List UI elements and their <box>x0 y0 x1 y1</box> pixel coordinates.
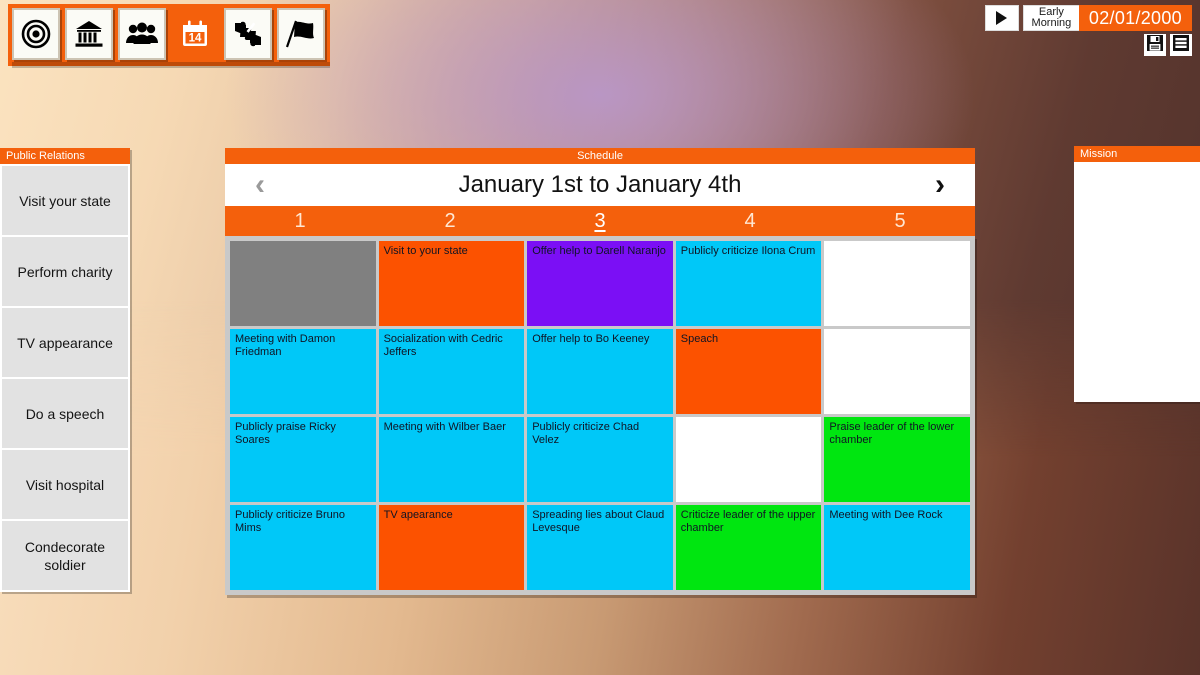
schedule-cell[interactable]: Offer help to Bo Keeney <box>527 329 673 414</box>
pr-action-condecorate-soldier[interactable]: Condecorate soldier <box>2 521 128 590</box>
toolbar-tab-nation[interactable] <box>277 8 325 60</box>
floppy-disk-icon <box>1146 34 1164 57</box>
schedule-column-3[interactable]: 3 <box>525 206 675 236</box>
schedule-cell <box>230 241 376 326</box>
schedule-cell[interactable]: Meeting with Damon Friedman <box>230 329 376 414</box>
play-button[interactable] <box>985 5 1019 31</box>
pr-action-visit-hospital[interactable]: Visit hospital <box>2 450 128 519</box>
pr-action-visit-your-state[interactable]: Visit your state <box>2 166 128 235</box>
flag-icon <box>285 19 317 49</box>
schedule-column-1[interactable]: 1 <box>225 206 375 236</box>
toolbar-tab-people[interactable] <box>118 8 166 60</box>
schedule-cell[interactable]: Publicly praise Ricky Soares <box>230 417 376 502</box>
schedule-cell[interactable]: Meeting with Dee Rock <box>824 505 970 590</box>
schedule-cell[interactable]: Publicly criticize Bruno Mims <box>230 505 376 590</box>
schedule-range-label: January 1st to January 4th <box>277 171 923 199</box>
schedule-title: Schedule <box>225 148 975 164</box>
public-relations-title: Public Relations <box>0 148 130 164</box>
previous-week-button[interactable]: ‹ <box>243 170 277 200</box>
save-button[interactable] <box>1144 34 1166 56</box>
schedule-panel: Schedule ‹ January 1st to January 4th › … <box>225 148 975 595</box>
pr-action-do-a-speech[interactable]: Do a speech <box>2 379 128 448</box>
next-week-button[interactable]: › <box>923 170 957 200</box>
toolbar-tab-approval[interactable] <box>224 8 272 60</box>
public-relations-list: Visit your state Perform charity TV appe… <box>0 164 130 592</box>
main-toolbar: 14 <box>8 4 330 66</box>
schedule-cell[interactable]: Praise leader of the lower chamber <box>824 417 970 502</box>
schedule-cell[interactable]: TV apearance <box>379 505 525 590</box>
status-bar: Early Morning 02/01/2000 <box>985 5 1192 31</box>
schedule-cell[interactable] <box>824 241 970 326</box>
schedule-cell[interactable]: Offer help to Darell Naranjo <box>527 241 673 326</box>
schedule-cell[interactable]: Speach <box>676 329 822 414</box>
play-icon <box>996 11 1007 25</box>
public-relations-panel: Public Relations Visit your state Perfor… <box>0 148 130 592</box>
schedule-column-4[interactable]: 4 <box>675 206 825 236</box>
calendar-icon: 14 <box>179 18 211 50</box>
toolbar-tab-government[interactable] <box>65 8 113 60</box>
schedule-cell[interactable] <box>676 417 822 502</box>
schedule-column-5[interactable]: 5 <box>825 206 975 236</box>
toolbar-tab-target[interactable] <box>12 8 60 60</box>
capitol-icon <box>74 19 104 49</box>
schedule-cell[interactable]: Meeting with Wilber Baer <box>379 417 525 502</box>
schedule-column-2[interactable]: 2 <box>375 206 525 236</box>
schedule-cell[interactable]: Spreading lies about Claud Levesque <box>527 505 673 590</box>
thumbs-icon <box>232 19 264 49</box>
mission-panel: Mission <box>1074 146 1200 402</box>
pr-action-tv-appearance[interactable]: TV appearance <box>2 308 128 377</box>
svg-text:14: 14 <box>189 33 202 45</box>
schedule-cell[interactable]: Visit to your state <box>379 241 525 326</box>
schedule-cell[interactable]: Criticize leader of the upper chamber <box>676 505 822 590</box>
schedule-cell[interactable]: Publicly criticize Ilona Crum <box>676 241 822 326</box>
menu-button[interactable] <box>1170 34 1192 56</box>
schedule-grid-container: Visit to your stateOffer help to Darell … <box>225 236 975 595</box>
people-icon <box>126 22 158 46</box>
target-icon <box>21 19 51 49</box>
window-icon-row <box>1144 34 1192 56</box>
date-display: 02/01/2000 <box>1079 5 1192 31</box>
hamburger-menu-icon <box>1172 34 1190 57</box>
schedule-cell[interactable]: Socialization with Cedric Jeffers <box>379 329 525 414</box>
schedule-navigation: ‹ January 1st to January 4th › <box>225 164 975 206</box>
time-of-day-display: Early Morning <box>1023 5 1079 31</box>
schedule-grid: Visit to your stateOffer help to Darell … <box>230 241 970 590</box>
schedule-cell[interactable]: Publicly criticize Chad Velez <box>527 417 673 502</box>
pr-action-perform-charity[interactable]: Perform charity <box>2 237 128 306</box>
mission-body[interactable] <box>1074 162 1200 402</box>
mission-title: Mission <box>1074 146 1200 162</box>
schedule-cell[interactable] <box>824 329 970 414</box>
schedule-column-headers: 1 2 3 4 5 <box>225 206 975 236</box>
time-of-day-line2: Morning <box>1032 18 1072 29</box>
toolbar-tab-schedule[interactable]: 14 <box>171 8 219 60</box>
